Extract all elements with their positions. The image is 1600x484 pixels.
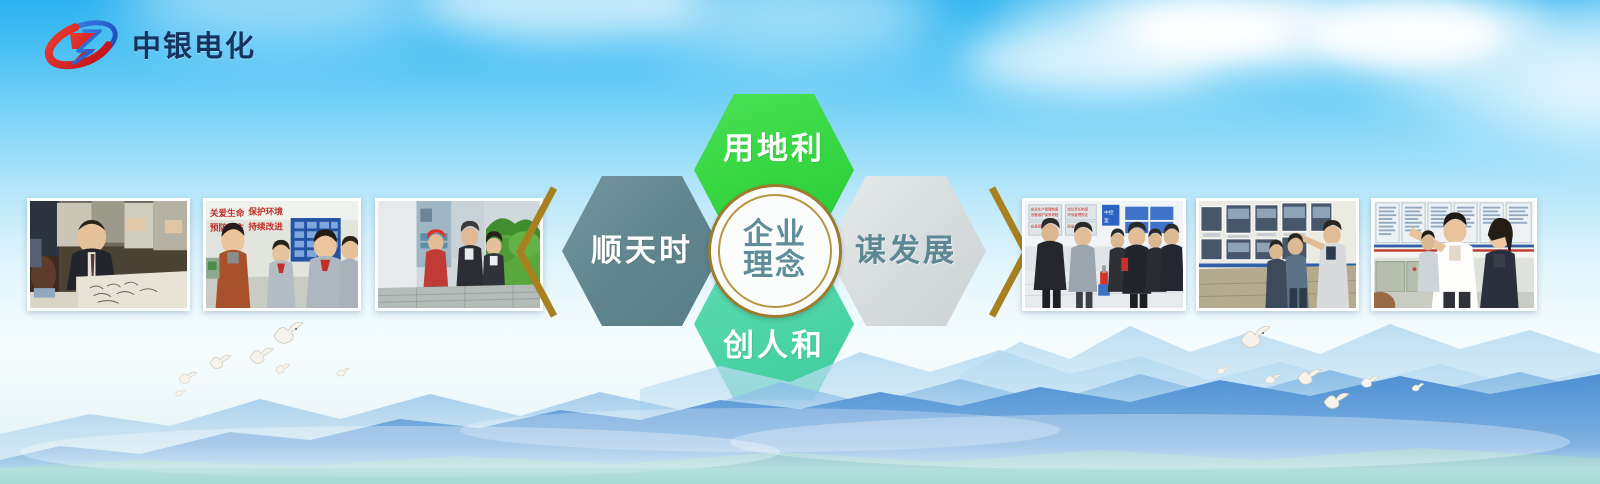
- svg-text:环保管理规定: 环保管理规定: [1067, 212, 1088, 217]
- dove-icon: [1238, 324, 1272, 352]
- svg-text:设备维护保养规程: 设备维护保养规程: [1031, 212, 1059, 217]
- svg-text:持续改进: 持续改进: [248, 220, 283, 232]
- dove-icon: [275, 362, 291, 374]
- cloud-7: [960, 30, 1210, 92]
- company-name: 中银电化: [132, 23, 256, 65]
- mountain-landscape: [0, 254, 1600, 484]
- zhongyin-dianhua-logo-icon: [44, 18, 120, 70]
- dove-icon: [1264, 372, 1282, 385]
- svg-text:岗位责任制度: 岗位责任制度: [1067, 207, 1088, 212]
- dove-icon: [248, 345, 274, 365]
- svg-text:保护环境: 保护环境: [247, 205, 283, 217]
- company-logo[interactable]: 中银电化: [44, 18, 256, 70]
- bottom-strip: [0, 468, 1600, 484]
- svg-text:中控: 中控: [1104, 209, 1114, 216]
- hex-top-label: 用地利: [723, 134, 825, 165]
- dove-icon: [178, 370, 198, 385]
- banner-root: 中银电化: [0, 0, 1600, 484]
- svg-text:关爱生命: 关爱生命: [210, 207, 245, 219]
- center-line-2: 理念: [743, 251, 807, 282]
- dove-icon: [1296, 366, 1322, 386]
- dove-icon: [1411, 382, 1425, 392]
- svg-text:安全生产管理制度: 安全生产管理制度: [1031, 207, 1059, 212]
- svg-text:室: 室: [1104, 217, 1109, 224]
- center-line-1: 企业: [743, 220, 807, 251]
- cloud-9: [420, 0, 700, 42]
- dove-icon: [208, 352, 232, 370]
- dove-icon: [175, 388, 187, 397]
- dove-icon: [1216, 365, 1231, 376]
- center-circle-label: 企业 理念: [743, 220, 807, 281]
- dove-icon: [336, 367, 350, 378]
- dove-icon: [1360, 374, 1380, 389]
- dove-icon: [1322, 390, 1350, 410]
- dove-icon: [271, 320, 305, 348]
